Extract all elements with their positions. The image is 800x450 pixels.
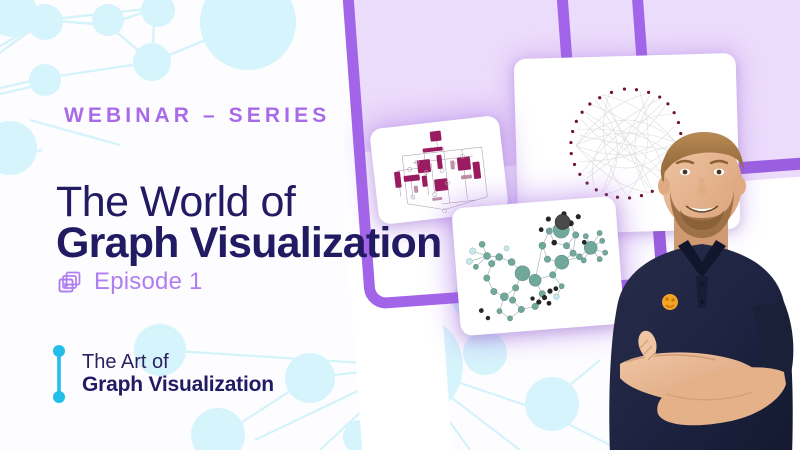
text-layer: WEBINAR – SERIES The World of Graph Visu… — [0, 0, 800, 450]
brand-lockup: The Art of Graph Visualization — [50, 343, 274, 405]
episode-row: Episode 1 — [58, 268, 203, 296]
episode-label: Episode 1 — [94, 268, 203, 296]
webinar-kicker: WEBINAR – SERIES — [64, 104, 330, 128]
graph-edge-mark-icon — [50, 343, 68, 405]
brand-line-1: The Art of — [82, 351, 274, 373]
video-stack-play-icon — [58, 270, 83, 295]
slide-canvas: WEBINAR – SERIES The World of Graph Visu… — [0, 0, 800, 450]
brand-line-2: Graph Visualization — [82, 373, 274, 397]
brand-text: The Art of Graph Visualization — [82, 351, 274, 397]
title-line-2: Graph Visualization — [56, 219, 441, 268]
